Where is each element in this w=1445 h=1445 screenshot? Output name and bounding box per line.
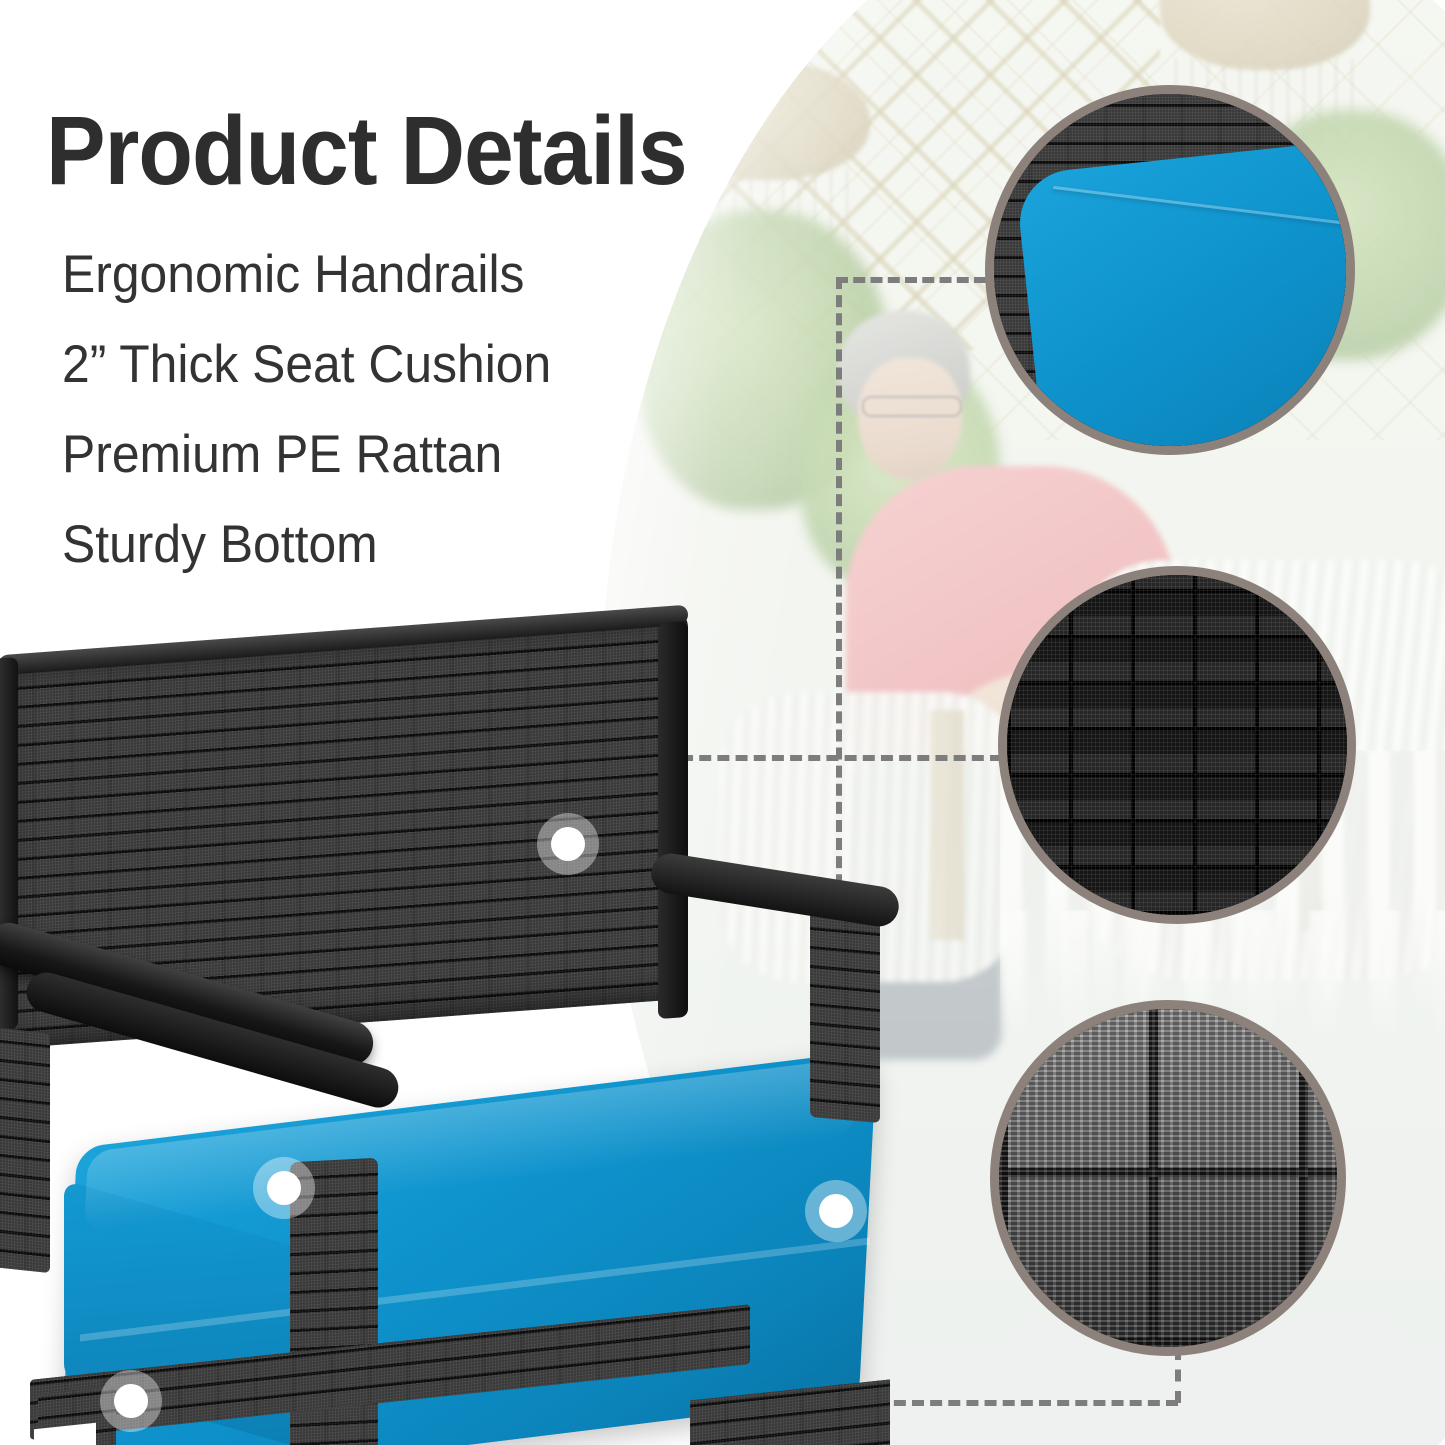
callout-cushion[interactable]: [985, 85, 1355, 455]
page-title: Product Details: [46, 95, 687, 207]
feature-item-handrails: Ergonomic Handrails: [62, 248, 720, 301]
marker-cushion[interactable]: [805, 1180, 867, 1242]
chair-back-right-rail: [658, 621, 688, 1019]
callout-cushion-fabric: [1015, 138, 1355, 455]
marker-backrest[interactable]: [537, 813, 599, 875]
connector-bottom-vertical: [1175, 1348, 1181, 1403]
callout-bottom[interactable]: [990, 1000, 1346, 1356]
marker-armrest[interactable]: [253, 1157, 315, 1219]
callout-rattan-texture: [1007, 575, 1347, 915]
product-details-graphic: Product Details Ergonomic Handrails 2” T…: [0, 0, 1445, 1445]
marker-bottom[interactable]: [100, 1370, 162, 1432]
feature-item-bottom: Sturdy Bottom: [62, 518, 720, 571]
chair-left-post: [0, 1027, 50, 1273]
feature-list: Ergonomic Handrails 2” Thick Seat Cushio…: [62, 248, 762, 608]
chair-back-left-rail: [0, 657, 18, 1031]
callout-bottom-frame-texture: [999, 1009, 1337, 1347]
callout-rattan[interactable]: [998, 566, 1356, 924]
chair-right-post: [810, 897, 880, 1123]
feature-item-rattan: Premium PE Rattan: [62, 428, 720, 481]
feature-item-cushion: 2” Thick Seat Cushion: [62, 338, 720, 391]
connector-top-horizontal: [836, 277, 986, 283]
product-photo-chair: [0, 600, 910, 1445]
